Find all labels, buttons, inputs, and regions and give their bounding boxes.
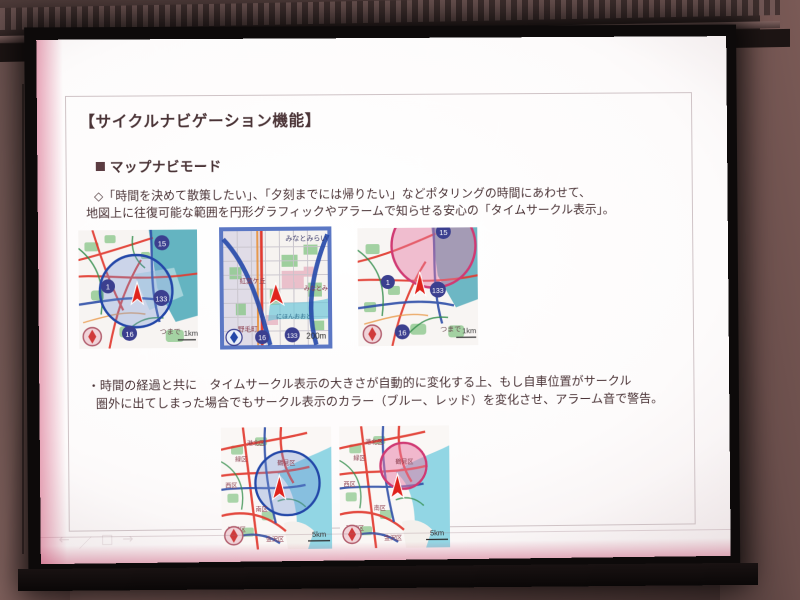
map-thumbnail-row-top: 15 1 133 16 つまで 1km	[78, 224, 679, 351]
square-bullet-icon	[96, 161, 105, 170]
svg-text:200m: 200m	[306, 332, 326, 341]
map-zoomed-city: みなとみらい 紅葉ケ丘 みなとみ にほんおおど 野毛町 16 133 200m	[219, 226, 332, 349]
section-bullet-label: マップナビモード	[110, 155, 222, 176]
section-bullet: マップナビモード	[96, 155, 222, 176]
svg-text:金沢区: 金沢区	[266, 535, 284, 543]
svg-text:16: 16	[398, 328, 406, 337]
map-wide-red-circle: 15 1 133 16 つまで 1km	[357, 227, 478, 346]
svg-text:金沢区: 金沢区	[384, 534, 402, 542]
projection-screen-photo: 【サイクルナビゲーション機能】 マップナビモード ◇「時間を決めて散策したい」、…	[0, 0, 800, 600]
svg-text:西区: 西区	[225, 483, 237, 490]
page-title: 【サイクルナビゲーション機能】	[79, 108, 321, 132]
svg-text:港北区: 港北区	[247, 439, 265, 447]
map-region-blue-circle: 港北区緑区鶴見区 西区南区戸塚区 金沢区 5km	[221, 427, 332, 550]
svg-text:133: 133	[287, 333, 298, 340]
svg-text:南区: 南区	[374, 504, 386, 512]
svg-text:1: 1	[386, 278, 390, 287]
svg-text:133: 133	[156, 296, 168, 303]
map-region-red-circle: 港北区緑区鶴見区 西区南区戸塚区 金沢区 5km	[339, 425, 450, 548]
svg-text:野毛町: 野毛町	[238, 324, 258, 333]
svg-text:西区: 西区	[344, 481, 356, 488]
svg-text:紅葉ケ丘: 紅葉ケ丘	[240, 276, 267, 285]
svg-text:1km: 1km	[184, 329, 198, 338]
svg-text:港北区: 港北区	[365, 438, 383, 446]
svg-text:つまで: つまで	[440, 325, 461, 333]
door-edge	[22, 84, 24, 554]
svg-text:みなとみらい: みなとみらい	[285, 234, 327, 242]
svg-text:15: 15	[158, 239, 166, 248]
svg-text:南区: 南区	[256, 505, 268, 513]
map-wide-blue-circle: 15 1 133 16 つまで 1km	[78, 229, 198, 348]
svg-text:緑区: 緑区	[235, 455, 247, 463]
paragraph-bottom: ・時間の経過と共に タイムサークル表示の大きさが自動的に変化する上、もし自車位置…	[88, 371, 704, 413]
svg-text:133: 133	[432, 288, 444, 295]
projected-slide: 【サイクルナビゲーション機能】 マップナビモード ◇「時間を決めて散策したい」、…	[36, 36, 730, 564]
svg-text:16: 16	[258, 335, 266, 342]
svg-text:鶴見区: 鶴見区	[277, 459, 295, 467]
svg-text:16: 16	[125, 330, 133, 339]
paragraph-top: ◇「時間を決めて散策したい」、「夕刻までには帰りたい」などポタリングの時間にあわ…	[94, 184, 694, 222]
svg-text:緑区: 緑区	[353, 454, 365, 462]
svg-text:15: 15	[439, 228, 447, 237]
svg-text:1: 1	[106, 282, 110, 291]
svg-text:つまで: つまで	[160, 328, 181, 336]
projection-color-fringe-left	[36, 40, 67, 564]
svg-text:1km: 1km	[462, 326, 476, 335]
svg-text:鶴見区: 鶴見区	[395, 458, 413, 466]
svg-text:みなとみ: みなとみ	[304, 285, 328, 292]
